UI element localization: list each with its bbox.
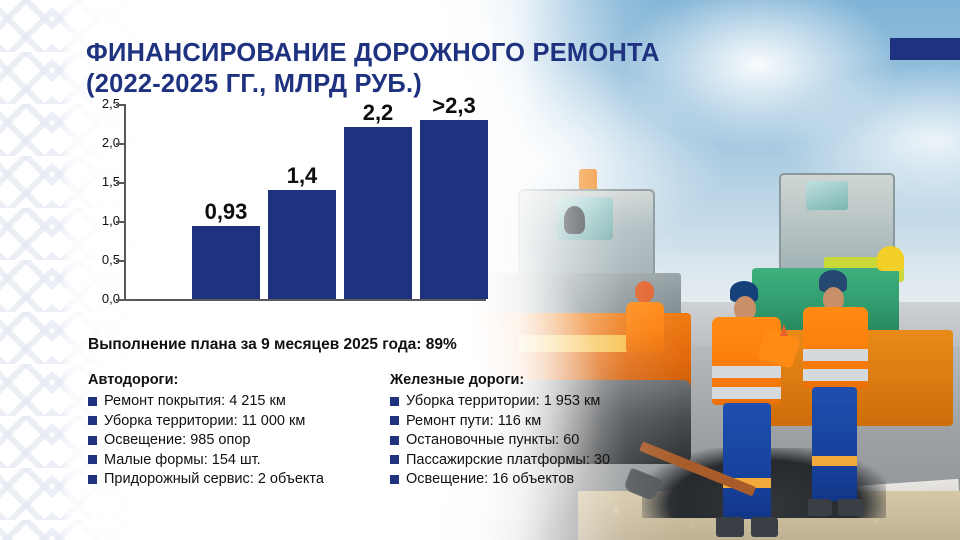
square-bullet-icon	[390, 475, 399, 484]
list-item: Пассажирские платформы: 30	[390, 452, 690, 468]
chart-bar-value-label: 1,4	[260, 164, 344, 188]
y-axis-tick	[116, 143, 124, 145]
chart-bar	[192, 226, 260, 299]
worker3-hi-vis-vest	[626, 302, 664, 354]
accent-bar	[890, 38, 960, 60]
roads-column: Автодороги: Ремонт покрытия: 4 215 кмУбо…	[88, 372, 388, 491]
y-axis-labels: 0,00,51,01,52,02,5	[86, 104, 120, 300]
chart-bar	[268, 190, 336, 299]
worker-legs	[723, 403, 771, 520]
chart-bar-value-label: 0,93	[184, 200, 268, 224]
square-bullet-icon	[88, 397, 97, 406]
square-bullet-icon	[88, 416, 97, 425]
worker-boot-right	[751, 517, 779, 538]
chart-bar	[344, 127, 412, 299]
roads-item-label: Уборка территории: 11 000 км	[104, 413, 305, 429]
y-axis-tick	[116, 260, 124, 262]
vest-reflective-band	[712, 366, 781, 378]
roads-heading: Автодороги:	[88, 372, 388, 388]
railways-list: Уборка территории: 1 953 кмРемонт пути: …	[390, 393, 690, 487]
list-item: Малые формы: 154 шт.	[88, 452, 388, 468]
roads-list: Ремонт покрытия: 4 215 кмУборка территор…	[88, 393, 388, 487]
worker2-reflective-band	[803, 349, 868, 360]
railways-column: Железные дороги: Уборка территории: 1 95…	[390, 372, 690, 491]
railways-item-label: Пассажирские платформы: 30	[406, 452, 610, 468]
square-bullet-icon	[390, 416, 399, 425]
slide-root: ФИНАНСИРОВАНИЕ ДОРОЖНОГО РЕМОНТА (2022-2…	[0, 0, 960, 540]
funding-bar-chart: 0,00,51,01,52,02,5 0,931,42,2>2,3	[86, 104, 486, 324]
list-item: Остановочные пункты: 60	[390, 432, 690, 448]
worker2-legs	[812, 387, 856, 501]
list-item: Ремонт покрытия: 4 215 км	[88, 393, 388, 409]
worker3-head	[635, 281, 654, 303]
chart-bar-value-label: 2,2	[336, 101, 420, 125]
worker2-boot-right	[838, 499, 862, 516]
vest-reflective-band-2	[712, 387, 781, 399]
paver-worker-hardhat	[877, 246, 904, 271]
chart-bar-value-label: >2,3	[412, 94, 496, 118]
square-bullet-icon	[390, 436, 399, 445]
worker2-reflective-band-2	[803, 369, 868, 380]
roller-stripe	[518, 335, 630, 352]
x-axis-line	[124, 299, 486, 301]
worker-boot-left	[716, 517, 744, 538]
railways-heading: Железные дороги:	[390, 372, 690, 388]
chart-plot-area: 0,931,42,2>2,3	[126, 104, 486, 299]
roads-item-label: Малые формы: 154 шт.	[104, 452, 261, 468]
roads-item-label: Ремонт покрытия: 4 215 км	[104, 393, 286, 409]
list-item: Придорожный сервис: 2 объекта	[88, 471, 388, 487]
square-bullet-icon	[88, 475, 97, 484]
roads-item-label: Придорожный сервис: 2 объекта	[104, 471, 324, 487]
paver-windshield	[806, 181, 848, 210]
square-bullet-icon	[390, 455, 399, 464]
worker-second	[780, 270, 897, 518]
y-axis-tick	[116, 221, 124, 223]
list-item: Уборка территории: 1 953 км	[390, 393, 690, 409]
list-item: Уборка территории: 11 000 км	[88, 413, 388, 429]
y-axis-tick	[116, 104, 124, 106]
square-bullet-icon	[390, 397, 399, 406]
chart-bar	[420, 120, 488, 299]
list-item: Освещение: 985 опор	[88, 432, 388, 448]
roller-driver	[564, 206, 585, 234]
page-title: ФИНАНСИРОВАНИЕ ДОРОЖНОГО РЕМОНТА (2022-2…	[86, 38, 686, 100]
list-item: Ремонт пути: 116 км	[390, 413, 690, 429]
railways-item-label: Остановочные пункты: 60	[406, 432, 579, 448]
square-bullet-icon	[88, 436, 97, 445]
railways-item-label: Освещение: 16 объектов	[406, 471, 574, 487]
worker2-boot-left	[808, 499, 832, 516]
square-bullet-icon	[88, 455, 97, 464]
worker-distant	[621, 281, 669, 367]
title-line-1: ФИНАНСИРОВАНИЕ ДОРОЖНОГО РЕМОНТА	[86, 39, 660, 67]
plan-execution-line: Выполнение плана за 9 месяцев 2025 года:…	[88, 336, 457, 354]
title-line-2: (2022-2025 ГГ., МЛРД РУБ.)	[86, 69, 686, 100]
roads-item-label: Освещение: 985 опор	[104, 432, 250, 448]
railways-item-label: Уборка территории: 1 953 км	[406, 393, 600, 409]
y-axis-tick	[116, 182, 124, 184]
worker2-leg-band	[812, 456, 856, 466]
list-item: Освещение: 16 объектов	[390, 471, 690, 487]
y-axis-tick	[116, 299, 124, 301]
railways-item-label: Ремонт пути: 116 км	[406, 413, 541, 429]
